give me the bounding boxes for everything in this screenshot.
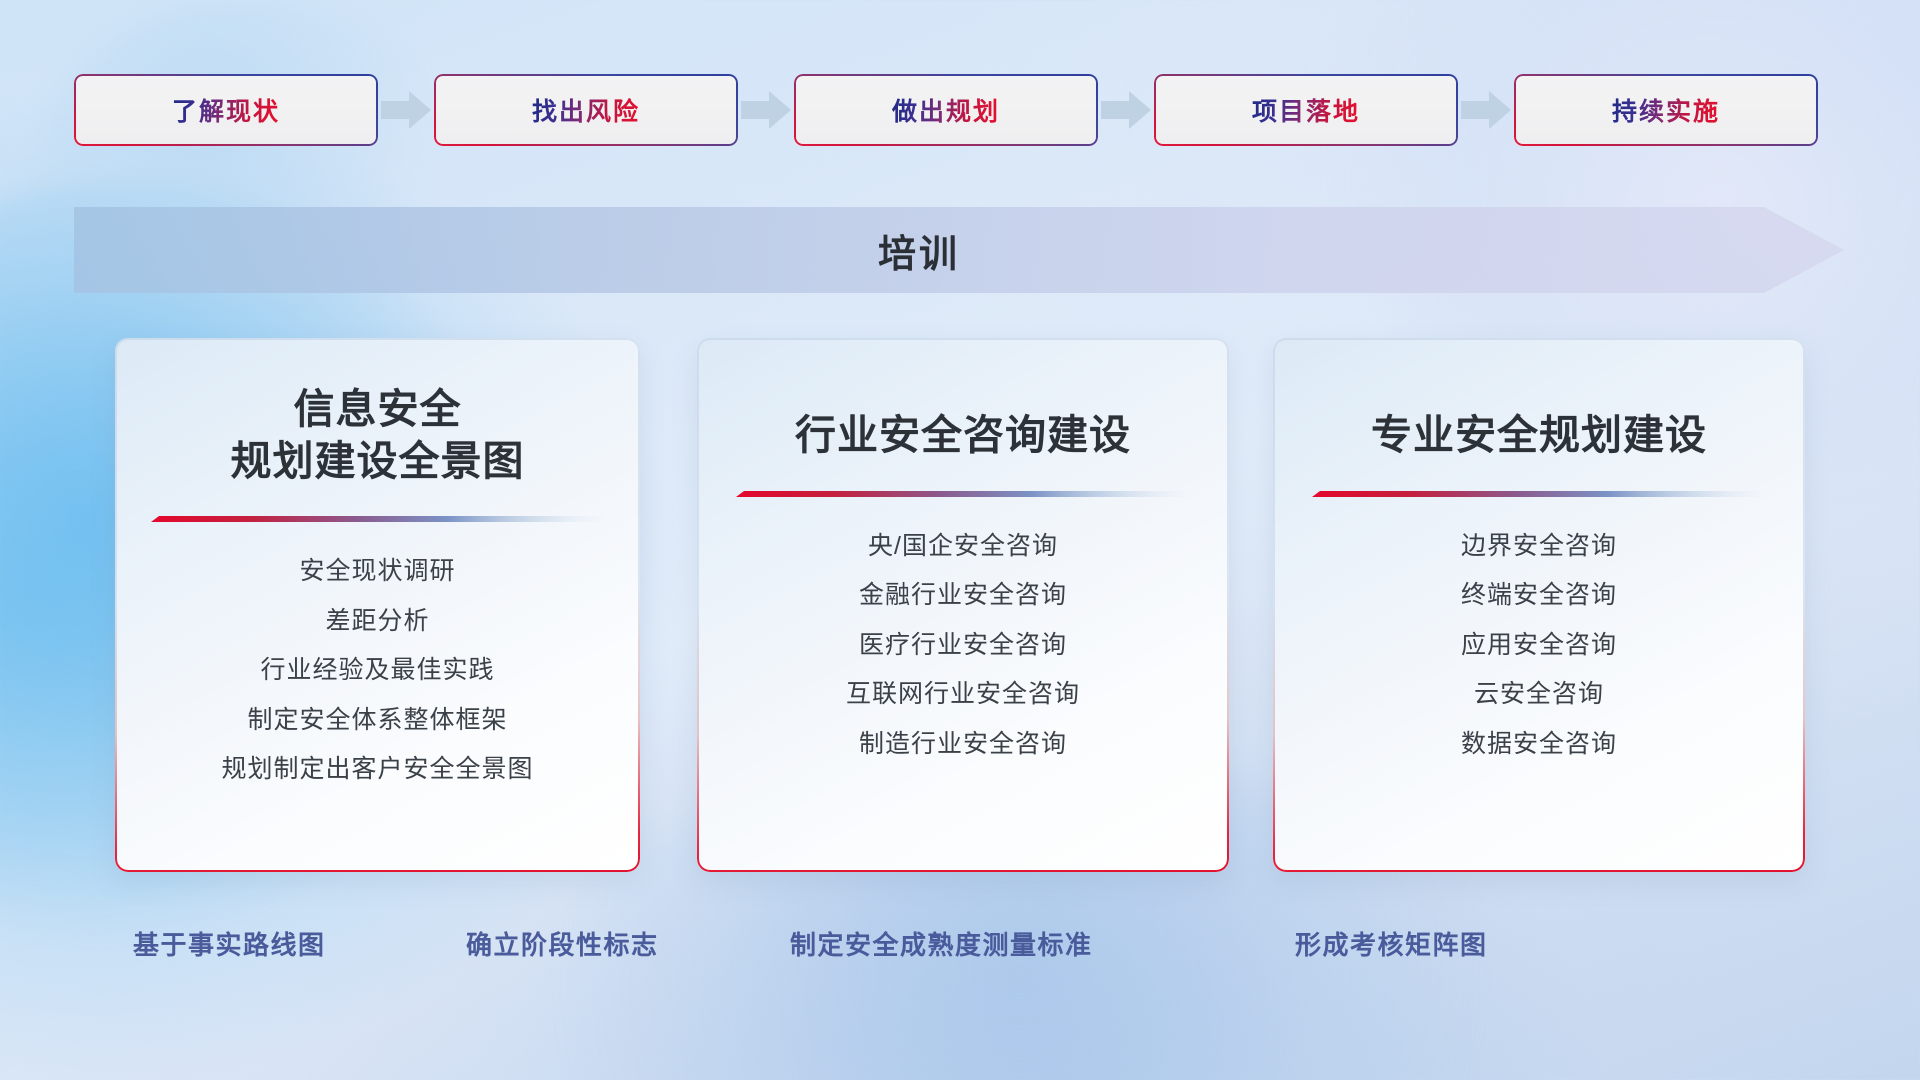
- list-item: 制造行业安全咨询: [859, 726, 1067, 764]
- arrow-right-icon: [1099, 90, 1153, 130]
- arrow-right-icon: [1459, 90, 1513, 130]
- list-item: 规划制定出客户安全全景图: [221, 751, 533, 789]
- caption-label: 形成考核矩阵图: [1295, 925, 1488, 962]
- process-step-3[interactable]: 做出规划: [794, 74, 1098, 146]
- list-item: 边界安全咨询: [1461, 528, 1617, 566]
- card-divider: [734, 490, 1192, 502]
- training-banner: 培训: [74, 207, 1844, 293]
- card-industry-security-consulting[interactable]: 行业安全咨询建设: [697, 338, 1229, 872]
- caption-label: 基于事实路线图: [133, 925, 326, 962]
- card-title: 专业安全规划建设: [1371, 410, 1707, 462]
- process-flow: 了解现状 找出风险 做出规划 项目落地 持续实施: [0, 70, 1920, 150]
- list-item: 终端安全咨询: [1461, 577, 1617, 615]
- process-step-label: 持续实施: [1612, 92, 1720, 128]
- list-item: 安全现状调研: [299, 553, 455, 591]
- card-list: 央/国企安全咨询 金融行业安全咨询 医疗行业安全咨询 互联网行业安全咨询 制造行…: [846, 528, 1080, 764]
- card-list: 边界安全咨询 终端安全咨询 应用安全咨询 云安全咨询 数据安全咨询: [1461, 528, 1617, 764]
- caption-label: 确立阶段性标志: [466, 925, 659, 962]
- caption-label: 制定安全成熟度测量标准: [790, 925, 1093, 962]
- process-step-label: 做出规划: [892, 92, 1000, 128]
- process-step-label: 了解现状: [172, 92, 280, 128]
- caption-row: 基于事实路线图 确立阶段性标志 制定安全成熟度测量标准 形成考核矩阵图: [0, 925, 1920, 969]
- list-item: 制定安全体系整体框架: [247, 702, 507, 740]
- list-item: 应用安全咨询: [1461, 627, 1617, 665]
- process-step-1[interactable]: 了解现状: [74, 74, 378, 146]
- list-item: 互联网行业安全咨询: [846, 676, 1080, 714]
- list-item: 行业经验及最佳实践: [260, 652, 494, 690]
- list-item: 差距分析: [325, 603, 429, 641]
- card-list: 安全现状调研 差距分析 行业经验及最佳实践 制定安全体系整体框架 规划制定出客户…: [221, 553, 533, 789]
- process-step-label: 项目落地: [1252, 92, 1360, 128]
- card-professional-security-planning[interactable]: 专业安全规划建设: [1273, 338, 1805, 872]
- process-step-label: 找出风险: [532, 92, 640, 128]
- list-item: 金融行业安全咨询: [859, 577, 1067, 615]
- card-divider: [149, 515, 607, 527]
- arrow-right-icon: [379, 90, 433, 130]
- list-item: 云安全咨询: [1474, 676, 1604, 714]
- list-item: 央/国企安全咨询: [868, 528, 1058, 566]
- cards-row: 信息安全 规划建设全景图: [0, 338, 1920, 878]
- process-step-2[interactable]: 找出风险: [434, 74, 738, 146]
- banner-title: 培训: [74, 207, 1764, 293]
- list-item: 医疗行业安全咨询: [859, 627, 1067, 665]
- card-divider: [1310, 490, 1768, 502]
- list-item: 数据安全咨询: [1461, 726, 1617, 764]
- card-title: 信息安全 规划建设全景图: [231, 384, 525, 487]
- process-step-5[interactable]: 持续实施: [1514, 74, 1818, 146]
- card-information-security-blueprint[interactable]: 信息安全 规划建设全景图: [115, 338, 640, 872]
- process-step-4[interactable]: 项目落地: [1154, 74, 1458, 146]
- arrow-right-icon: [739, 90, 793, 130]
- card-title: 行业安全咨询建设: [795, 410, 1131, 462]
